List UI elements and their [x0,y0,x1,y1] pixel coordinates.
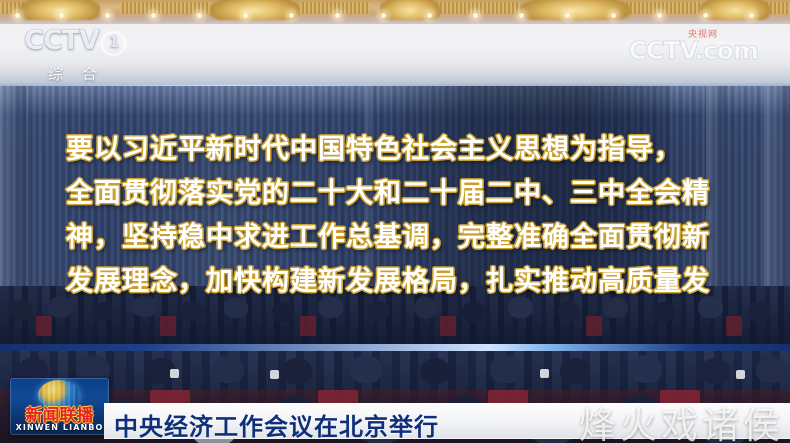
ceiling-lights [0,12,790,24]
hall-upper-wall [0,24,790,90]
blue-divider-beam [0,344,790,351]
broadcast-screenshot: CCTV1 综 合 央视网 CCTV.com 要以习近平新时代中国特色社会主义思… [0,0,790,443]
lower-third-banner: 中央经济工作会议在北京举行 [104,403,790,439]
program-name-en: XINWEN LIANBO [10,423,109,432]
audience-back-rows [0,286,790,346]
scene-photo [0,0,790,443]
xinwen-lianbo-logo: 新闻联播 XINWEN LIANBO [10,378,109,435]
headline-text: 中央经济工作会议在北京举行 [114,407,439,442]
